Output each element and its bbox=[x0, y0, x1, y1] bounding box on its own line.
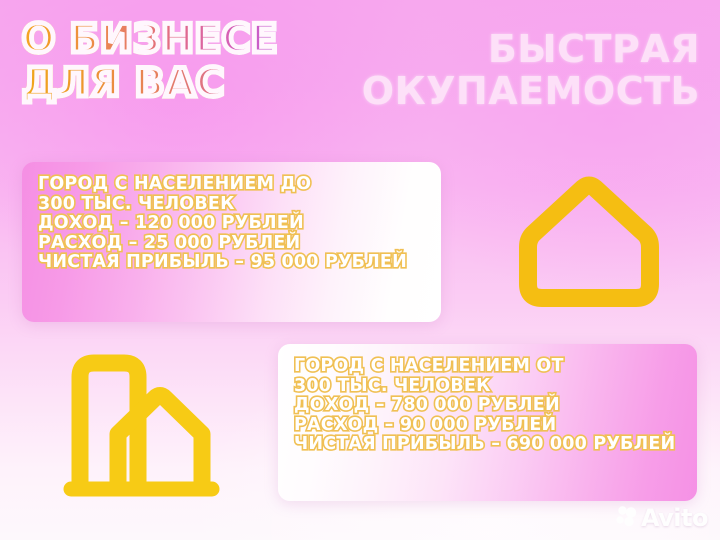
headline-left-line2: ДЛЯ ВАС bbox=[22, 66, 352, 103]
stats-card-large-city[interactable]: ГОРОД С НАСЕЛЕНИЕМ ОТ 300 ТЫС. ЧЕЛОВЕК Д… bbox=[278, 344, 697, 501]
card-stats-list: ДОХОД – 120 000 РУБЛЕЙ РАСХОД – 25 000 Р… bbox=[38, 214, 427, 273]
headline-left-line1: О БИЗНЕСЕ bbox=[22, 22, 352, 59]
avito-watermark: Avito bbox=[615, 504, 708, 532]
card-header-line1: ГОРОД С НАСЕЛЕНИЕМ ДО bbox=[38, 175, 427, 195]
card-header-line1: ГОРОД С НАСЕЛЕНИЕМ ОТ bbox=[294, 357, 683, 377]
headline-left: О БИЗНЕСЕ ДЛЯ ВАС bbox=[22, 22, 352, 102]
avito-logo-icon bbox=[615, 505, 637, 531]
stats-card-small-city[interactable]: ГОРОД С НАСЕЛЕНИЕМ ДО 300 ТЫС. ЧЕЛОВЕК Д… bbox=[22, 162, 441, 322]
headline-right-line1: БЫСТРАЯ bbox=[362, 30, 700, 68]
avito-wordmark: Avito bbox=[641, 504, 708, 532]
card-stat-income: ДОХОД – 780 000 РУБЛЕЙ bbox=[294, 396, 683, 416]
card-header-line2: 300 ТЫС. ЧЕЛОВЕК bbox=[38, 195, 427, 215]
card-header-line2: 300 ТЫС. ЧЕЛОВЕК bbox=[294, 377, 683, 397]
stats-card-small-city-body: ГОРОД С НАСЕЛЕНИЕМ ДО 300 ТЫС. ЧЕЛОВЕК Д… bbox=[38, 175, 427, 273]
card-stats-list: ДОХОД – 780 000 РУБЛЕЙ РАСХОД – 90 000 Р… bbox=[294, 396, 683, 455]
card-stat-expense: РАСХОД – 90 000 РУБЛЕЙ bbox=[294, 416, 683, 436]
city-buildings-icon bbox=[60, 346, 240, 506]
card-stat-profit: ЧИСТАЯ ПРИБЫЛЬ – 95 000 РУБЛЕЙ bbox=[38, 253, 427, 273]
stats-card-large-city-body: ГОРОД С НАСЕЛЕНИЕМ ОТ 300 ТЫС. ЧЕЛОВЕК Д… bbox=[294, 357, 683, 455]
poster-canvas: О БИЗНЕСЕ ДЛЯ ВАС БЫСТРАЯ ОКУПАЕМОСТЬ ГО… bbox=[0, 0, 720, 540]
card-stat-income: ДОХОД – 120 000 РУБЛЕЙ bbox=[38, 214, 427, 234]
card-stat-expense: РАСХОД – 25 000 РУБЛЕЙ bbox=[38, 234, 427, 254]
headline-right-line2: ОКУПАЕМОСТЬ bbox=[362, 72, 700, 110]
headline-right: БЫСТРАЯ ОКУПАЕМОСТЬ bbox=[362, 30, 700, 110]
card-stat-profit: ЧИСТАЯ ПРИБЫЛЬ – 690 000 РУБЛЕЙ bbox=[294, 435, 683, 455]
house-outline-icon bbox=[511, 168, 667, 316]
